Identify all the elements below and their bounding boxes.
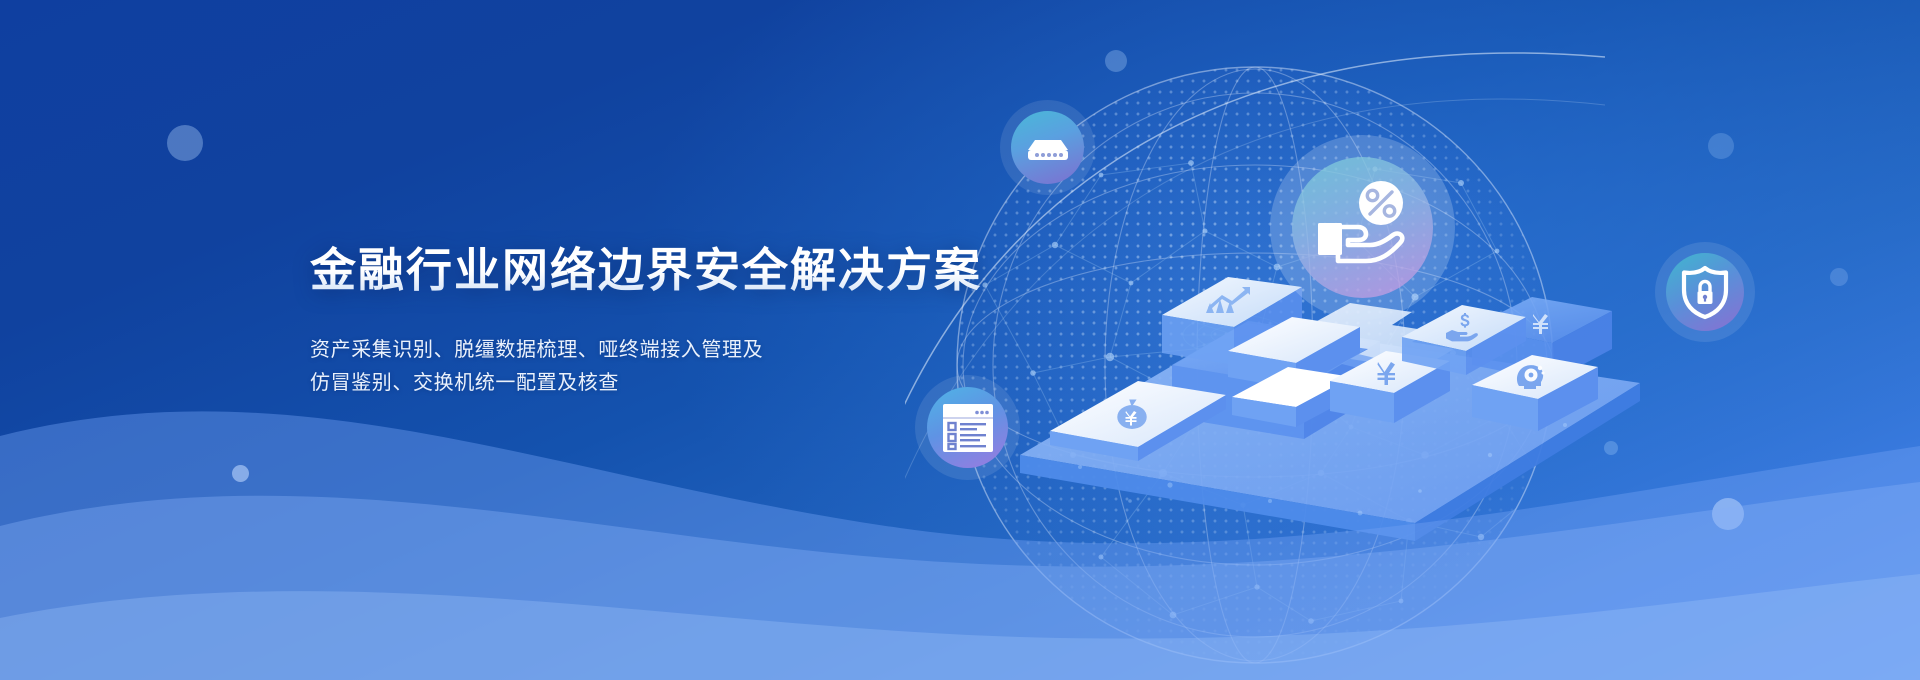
floating-dot-4 xyxy=(1830,268,1848,286)
floating-dot-1 xyxy=(167,125,203,161)
shield-icon-bubble xyxy=(1655,242,1755,342)
subtitle-line-2: 仿冒鉴别、交换机统一配置及核查 xyxy=(310,367,1070,400)
document-list-icon xyxy=(939,400,997,456)
floating-dot-2 xyxy=(1105,50,1127,72)
router-icon-bubble xyxy=(1000,100,1095,195)
router-icon xyxy=(1021,121,1075,175)
floating-dot-3 xyxy=(1708,133,1734,159)
page-title: 金融行业网络边界安全解决方案 xyxy=(310,243,1070,297)
page-subtitle: 资产采集识别、脱缰数据梳理、哑终端接入管理及 仿冒鉴别、交换机统一配置及核查 xyxy=(310,334,1070,400)
hero-text-block: 金融行业网络边界安全解决方案 资产采集识别、脱缰数据梳理、哑终端接入管理及 仿冒… xyxy=(310,243,1070,400)
subtitle-line-1: 资产采集识别、脱缰数据梳理、哑终端接入管理及 xyxy=(310,334,1070,367)
hand-percent-icon-bubble xyxy=(1270,135,1455,320)
shield-lock-icon xyxy=(1679,264,1731,320)
hand-percent-icon xyxy=(1308,179,1418,277)
hero-banner: 金融行业网络边界安全解决方案 资产采集识别、脱缰数据梳理、哑终端接入管理及 仿冒… xyxy=(0,0,1920,680)
